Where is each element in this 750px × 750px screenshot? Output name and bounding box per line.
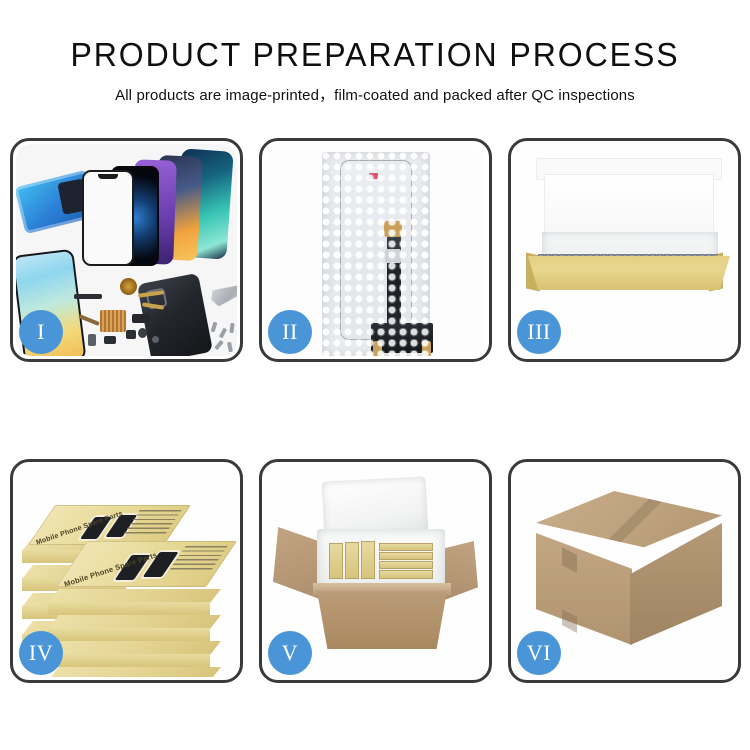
- screen-flex-cable: [387, 235, 401, 331]
- screw-3: [229, 323, 234, 333]
- inner-box-4: [379, 543, 433, 551]
- box-front-face: [48, 602, 210, 615]
- screen-connector-row: [371, 323, 433, 353]
- box-front-face: [48, 654, 210, 667]
- screws-group: [212, 322, 237, 356]
- step-panel-5: V: [259, 459, 492, 683]
- carton-front-face: [317, 591, 447, 649]
- small-part-2: [138, 328, 147, 338]
- ribbon-cable-part: [78, 314, 100, 326]
- small-part-5: [152, 336, 159, 343]
- step-panel-2: II: [259, 138, 492, 362]
- stack-box-f2: [48, 615, 210, 641]
- inner-box-3: [361, 541, 375, 579]
- flex-cable-part-1: [138, 290, 164, 298]
- small-part-4: [104, 336, 116, 344]
- box-spec-lines: [122, 510, 182, 536]
- step-panel-1: I: [10, 138, 243, 362]
- inner-box-2: [345, 542, 359, 579]
- step-badge-2: II: [268, 310, 312, 354]
- product-preparation-infographic: PRODUCT PREPARATION PROCESS All products…: [0, 0, 750, 750]
- inner-box-7: [379, 570, 433, 579]
- step-badge-4: IV: [19, 631, 63, 675]
- box-top-face: [48, 667, 221, 677]
- red-label-tab: [369, 173, 378, 179]
- yellow-boxes-inside: [327, 537, 435, 583]
- small-part-1: [126, 330, 136, 339]
- screw-4: [214, 340, 223, 350]
- step-panel-6: VI: [508, 459, 741, 683]
- wrapped-screen-assembly: [340, 160, 412, 340]
- step-badge-1: I: [19, 310, 63, 354]
- step-badge-3: III: [517, 310, 561, 354]
- box-tray-front-wall: [528, 256, 730, 290]
- screw-5: [227, 342, 233, 353]
- page-subtitle: All products are image-printed，film-coat…: [6, 83, 745, 105]
- step-panel-4: Mobile Phone Spare Parts: [10, 459, 243, 683]
- box-front-face: [48, 628, 210, 641]
- screw-1: [211, 322, 218, 333]
- stack-box-f1: [48, 589, 210, 615]
- small-part-3: [88, 334, 96, 346]
- screw-2: [219, 328, 227, 339]
- carton-left-face: [536, 533, 632, 645]
- glass-screen-protector: [82, 170, 134, 266]
- stack-box-f3: [48, 641, 210, 667]
- step-badge-6: VI: [517, 631, 561, 675]
- inner-box-1: [329, 543, 343, 579]
- box-top-face: [48, 615, 221, 629]
- flex-cable-part-2: [142, 302, 164, 309]
- camera-module-part: [132, 314, 150, 323]
- inner-box-6: [379, 561, 433, 569]
- chip-part: [100, 310, 126, 332]
- box-top-face: [48, 641, 221, 655]
- connector-pin-left: [373, 341, 382, 356]
- coil-part: [120, 278, 137, 295]
- header: PRODUCT PREPARATION PROCESS All products…: [0, 0, 750, 105]
- steps-grid: I II: [10, 138, 742, 683]
- inner-box-5: [379, 552, 433, 560]
- connector-pin-right: [422, 341, 431, 356]
- stack-box-f4: [48, 667, 210, 677]
- page-title: PRODUCT PREPARATION PROCESS: [11, 36, 739, 74]
- box-spec-lines: [168, 546, 228, 572]
- box-top-face: [48, 589, 221, 603]
- small-parts-group: [74, 284, 184, 356]
- tweezers-icon: [210, 279, 237, 310]
- step-panel-3: III: [508, 138, 741, 362]
- step-badge-5: V: [268, 631, 312, 675]
- bar-part: [74, 294, 102, 299]
